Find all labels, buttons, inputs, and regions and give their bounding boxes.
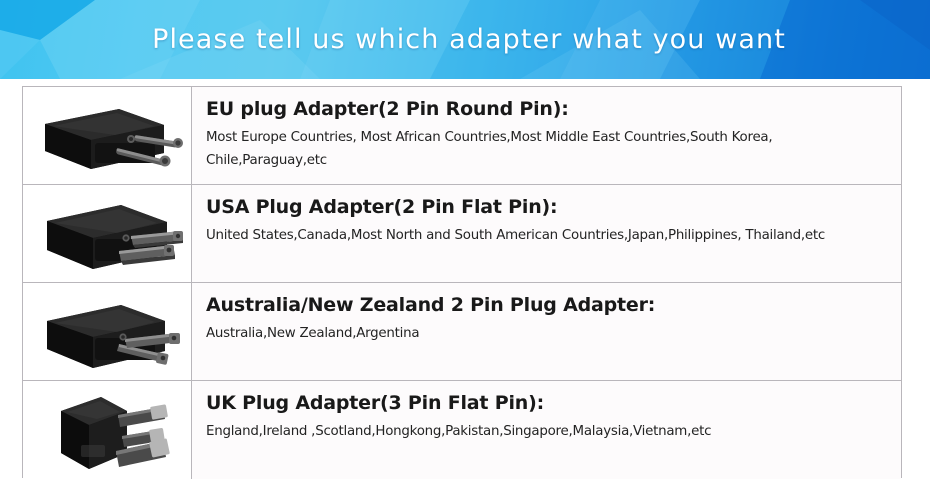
- uk-plug-adapter-image: [23, 381, 192, 479]
- adapter-info-cell: UK Plug Adapter(3 Pin Flat Pin): England…: [192, 381, 901, 479]
- table-row: EU plug Adapter(2 Pin Round Pin): Most E…: [23, 87, 901, 185]
- adapter-info-cell: USA Plug Adapter(2 Pin Flat Pin): United…: [192, 185, 901, 282]
- adapter-description: United States,Canada,Most North and Sout…: [206, 224, 887, 247]
- adapter-title: Australia/New Zealand 2 Pin Plug Adapter…: [206, 293, 887, 319]
- adapter-info-cell: EU plug Adapter(2 Pin Round Pin): Most E…: [192, 87, 901, 184]
- uk-plug-icon: [23, 381, 192, 478]
- header-banner: Please tell us which adapter what you wa…: [0, 0, 930, 79]
- adapter-description: England,Ireland ,Scotland,Hongkong,Pakis…: [206, 420, 887, 443]
- usa-plug-adapter-image: [23, 185, 192, 282]
- adapter-options-table: EU plug Adapter(2 Pin Round Pin): Most E…: [22, 86, 902, 478]
- adapter-description: Most Europe Countries, Most African Coun…: [206, 126, 887, 172]
- adapter-title: EU plug Adapter(2 Pin Round Pin):: [206, 97, 887, 123]
- australia-plug-adapter-image: [23, 283, 192, 380]
- page-title: Please tell us which adapter what you wa…: [0, 0, 930, 79]
- table-row: Australia/New Zealand 2 Pin Plug Adapter…: [23, 283, 901, 381]
- usa-plug-icon: [23, 185, 192, 282]
- adapter-title: USA Plug Adapter(2 Pin Flat Pin):: [206, 195, 887, 221]
- adapter-info-cell: Australia/New Zealand 2 Pin Plug Adapter…: [192, 283, 901, 380]
- table-row: UK Plug Adapter(3 Pin Flat Pin): England…: [23, 381, 901, 479]
- australia-plug-icon: [23, 283, 192, 380]
- adapter-title: UK Plug Adapter(3 Pin Flat Pin):: [206, 391, 887, 417]
- table-row: USA Plug Adapter(2 Pin Flat Pin): United…: [23, 185, 901, 283]
- adapter-description: Australia,New Zealand,Argentina: [206, 322, 887, 345]
- eu-plug-adapter-image: [23, 87, 192, 184]
- eu-plug-icon: [23, 87, 192, 184]
